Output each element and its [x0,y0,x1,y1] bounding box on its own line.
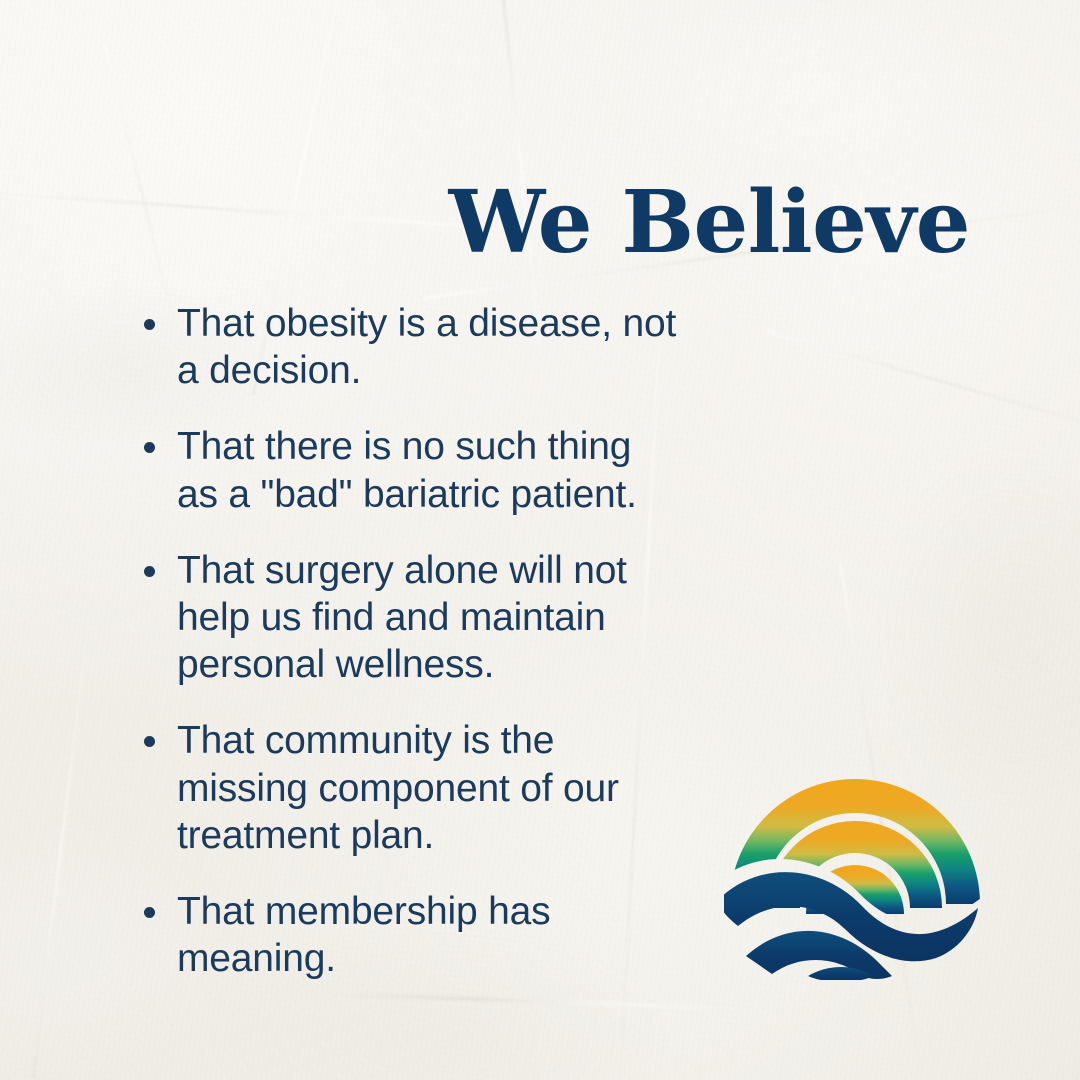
belief-text: That community is the missing component … [177,719,619,856]
page-title: We Believe [0,178,970,268]
beliefs-list: That obesity is a disease, not a decisio… [140,300,680,982]
belief-text: That obesity is a disease, not a decisio… [177,302,676,392]
list-item: That obesity is a disease, not a decisio… [140,300,680,394]
bullet-dot-icon [144,319,155,330]
bullet-dot-icon [144,566,155,577]
poster-content: We Believe That obesity is a disease, no… [0,0,1080,1080]
belief-text: That there is no such thing as a "bad" b… [177,425,637,515]
poster-canvas: We Believe That obesity is a disease, no… [0,0,1080,1080]
bullet-dot-icon [144,736,155,747]
belief-text: That surgery alone will not help us find… [177,549,627,686]
belief-text: That membership has meaning. [177,890,550,980]
sunrise-over-waves-logo-icon [724,718,986,980]
list-item: That surgery alone will not help us find… [140,547,680,689]
list-item: That membership has meaning. [140,888,680,982]
bullet-dot-icon [144,907,155,918]
list-item: That there is no such thing as a "bad" b… [140,423,680,517]
bullet-dot-icon [144,442,155,453]
list-item: That community is the missing component … [140,717,680,859]
